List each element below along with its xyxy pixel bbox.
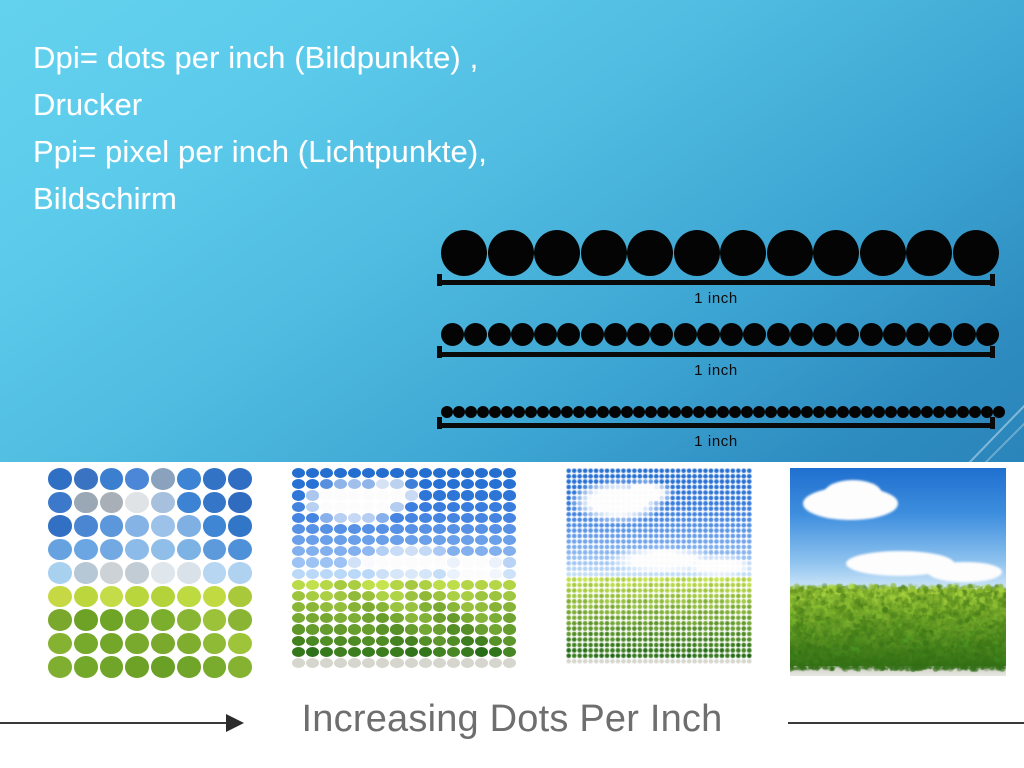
- ink-dot: [767, 323, 790, 346]
- grid-dot: [228, 492, 252, 514]
- grid-dot: [376, 591, 389, 601]
- grid-dot: [292, 658, 305, 668]
- grid-dot: [125, 586, 149, 608]
- ink-dot: [534, 323, 557, 346]
- grid-dot: [475, 557, 488, 567]
- ink-dot: [720, 230, 766, 276]
- grid-dot: [475, 624, 488, 634]
- grid-dot: [74, 515, 98, 537]
- ruler-tick-left: [437, 417, 442, 429]
- grid-dot: [461, 591, 474, 601]
- grid-dot: [292, 468, 305, 478]
- grid-dot: [419, 647, 432, 657]
- grid-dot: [292, 591, 305, 601]
- grid-dot: [376, 490, 389, 500]
- grid-dot: [292, 524, 305, 534]
- grid-dot: [390, 468, 403, 478]
- grid-dot: [125, 609, 149, 631]
- grid-dot: [503, 546, 516, 556]
- grid-dot: [447, 546, 460, 556]
- arrow-right-icon: [226, 714, 244, 732]
- grid-dot: [292, 557, 305, 567]
- grid-dot: [362, 602, 375, 612]
- grid-dot: [376, 468, 389, 478]
- ink-dot: [860, 230, 906, 276]
- caption-row: Increasing Dots Per Inch: [0, 698, 1024, 762]
- grid-dot: [390, 613, 403, 623]
- grid-dot: [100, 468, 124, 490]
- ruler-bar: [437, 346, 995, 358]
- ink-dot: [743, 323, 766, 346]
- grid-dot: [203, 468, 227, 490]
- grid-dot: [376, 647, 389, 657]
- grid-dot: [405, 546, 418, 556]
- ruler-tick-right: [990, 417, 995, 429]
- grid-dot: [292, 546, 305, 556]
- caption-label: Increasing Dots Per Inch: [302, 698, 723, 741]
- grid-dot: [390, 658, 403, 668]
- ruler-baseline: [437, 423, 995, 428]
- grid-dot: [475, 647, 488, 657]
- grid-dot: [433, 580, 446, 590]
- grid-dot: [334, 647, 347, 657]
- ink-dot: [906, 323, 929, 346]
- grid-dot: [489, 468, 502, 478]
- grid-dot: [503, 479, 516, 489]
- grid-dot: [348, 546, 361, 556]
- grid-dot: [503, 557, 516, 567]
- grid-dot: [433, 524, 446, 534]
- grid-dot: [125, 633, 149, 655]
- grid-dot: [405, 557, 418, 567]
- grid-dot: [292, 624, 305, 634]
- grid-dot: [334, 535, 347, 545]
- grid-dot: [419, 535, 432, 545]
- grid-dot: [362, 535, 375, 545]
- grid-dot: [320, 546, 333, 556]
- grid-dot: [419, 490, 432, 500]
- grid-dot: [177, 586, 201, 608]
- grid-dot: [461, 557, 474, 567]
- grid-dot: [292, 580, 305, 590]
- grid-dot: [362, 591, 375, 601]
- grid-dot: [151, 562, 175, 584]
- ink-dot: [976, 323, 999, 346]
- grid-dot: [447, 502, 460, 512]
- grid-dot: [100, 609, 124, 631]
- grass-region: [566, 582, 752, 664]
- grid-dot: [447, 468, 460, 478]
- ink-dot: [627, 230, 673, 276]
- grid-dot: [48, 468, 72, 490]
- grid-dot: [320, 624, 333, 634]
- grid-dot: [390, 580, 403, 590]
- grid-dot: [503, 647, 516, 657]
- grid-dot: [461, 490, 474, 500]
- grid-dot: [419, 502, 432, 512]
- grid-dot: [405, 524, 418, 534]
- grid-dot: [306, 557, 319, 567]
- grid-dot: [348, 624, 361, 634]
- grid-dot: [503, 490, 516, 500]
- page-title: Dpi= dots per inch (Bildpunkte) , Drucke…: [33, 34, 753, 222]
- caption-arrow-line-left: [0, 722, 232, 724]
- grid-dot: [447, 591, 460, 601]
- dot-strip-low: [441, 230, 999, 276]
- slide: Dpi= dots per inch (Bildpunkte) , Drucke…: [0, 0, 1024, 768]
- grid-dot: [475, 591, 488, 601]
- grid-dot: [362, 490, 375, 500]
- grid-dot: [405, 636, 418, 646]
- grid-dot: [433, 557, 446, 567]
- grid-dot: [48, 515, 72, 537]
- grid-dot: [320, 468, 333, 478]
- grid-dot: [489, 658, 502, 668]
- grid-dot: [433, 513, 446, 523]
- grid-dot: [292, 479, 305, 489]
- ink-dot: [441, 323, 464, 346]
- grid-dot: [503, 535, 516, 545]
- grid-dot: [461, 479, 474, 489]
- grid-dot: [306, 490, 319, 500]
- grid-dot: [405, 569, 418, 579]
- grid-dot: [362, 546, 375, 556]
- grid-dot: [320, 647, 333, 657]
- grid-dot: [503, 502, 516, 512]
- grid-dot: [320, 513, 333, 523]
- grid-dot: [74, 633, 98, 655]
- dpi-comparison-panels: [0, 468, 1024, 694]
- grid-dot: [348, 502, 361, 512]
- grid-dot: [74, 468, 98, 490]
- grid-dot: [390, 502, 403, 512]
- ruler-tick-left: [437, 274, 442, 286]
- ink-dot: [883, 323, 906, 346]
- grid-dot: [489, 647, 502, 657]
- grid-dot: [503, 602, 516, 612]
- grid-dot: [419, 569, 432, 579]
- grid-dot: [292, 636, 305, 646]
- grid-dot: [348, 658, 361, 668]
- scene-image: [790, 468, 1006, 676]
- grid-dot: [362, 636, 375, 646]
- ink-dot: [581, 323, 604, 346]
- grid-dot: [475, 613, 488, 623]
- grid-dot: [433, 468, 446, 478]
- grid-dot: [461, 647, 474, 657]
- grid-dot: [320, 658, 333, 668]
- grid-dot: [100, 656, 124, 678]
- grid-dot: [405, 468, 418, 478]
- grid-dot: [334, 490, 347, 500]
- grid-dot: [390, 546, 403, 556]
- grid-dot: [151, 586, 175, 608]
- grid-dot: [489, 591, 502, 601]
- grid-dot: [489, 490, 502, 500]
- cloud-icon: [577, 486, 663, 519]
- grid-dot: [74, 586, 98, 608]
- grid-dot: [433, 535, 446, 545]
- grid-dot: [177, 468, 201, 490]
- grid-dot: [151, 656, 175, 678]
- grid-dot: [419, 546, 432, 556]
- grid-dot: [74, 656, 98, 678]
- grid-dot: [292, 502, 305, 512]
- grid-dot: [419, 524, 432, 534]
- grid-dot: [447, 479, 460, 489]
- grid-dot: [74, 609, 98, 631]
- grid-dot: [362, 647, 375, 657]
- grid-dot: [125, 468, 149, 490]
- grid-dot: [177, 515, 201, 537]
- grid-dot: [447, 535, 460, 545]
- grid-dot: [433, 546, 446, 556]
- grid-dot: [203, 492, 227, 514]
- ink-dot: [604, 323, 627, 346]
- grid-dot: [306, 479, 319, 489]
- grid-dot: [489, 502, 502, 512]
- caption-line-right: [788, 722, 1024, 724]
- grid-dot: [376, 546, 389, 556]
- ink-dot: [790, 323, 813, 346]
- grid-dot: [390, 624, 403, 634]
- grid-dot: [125, 492, 149, 514]
- grid-dot: [503, 513, 516, 523]
- grid-dot: [320, 569, 333, 579]
- grid-dot: [320, 535, 333, 545]
- grid-dot: [74, 562, 98, 584]
- grid-dot: [292, 535, 305, 545]
- grid-dot: [203, 586, 227, 608]
- grid-dot: [306, 624, 319, 634]
- grid-dot: [177, 633, 201, 655]
- grid-dot: [447, 613, 460, 623]
- grid-dot: [503, 524, 516, 534]
- ink-dot: [674, 230, 720, 276]
- ink-dot: [488, 230, 534, 276]
- grid-dot: [447, 602, 460, 612]
- grid-dot: [461, 580, 474, 590]
- grid-dot: [320, 580, 333, 590]
- ink-dot: [650, 323, 673, 346]
- grid-dot: [376, 535, 389, 545]
- grid-dot: [447, 647, 460, 657]
- grid-dot: [125, 515, 149, 537]
- ink-dot: [720, 323, 743, 346]
- grid-dot: [362, 468, 375, 478]
- grid-dot: [334, 513, 347, 523]
- grid-dot: [489, 479, 502, 489]
- slide-body-panel: Increasing Dots Per Inch: [0, 462, 1024, 768]
- grid-dot: [362, 613, 375, 623]
- grid-dot: [292, 613, 305, 623]
- grid-dot: [461, 502, 474, 512]
- ink-dot: [697, 323, 720, 346]
- grid-dot: [405, 658, 418, 668]
- grid-dot: [489, 636, 502, 646]
- grid-dot: [503, 468, 516, 478]
- grid-dot: [334, 580, 347, 590]
- grid-dot: [306, 580, 319, 590]
- grid-dot: [489, 613, 502, 623]
- grid-dot: [348, 647, 361, 657]
- grid-dot: [405, 624, 418, 634]
- dots-per-inch-ruler-diagram: 1 inch 1 inch 1 inch: [437, 230, 999, 455]
- ink-dot: [767, 230, 813, 276]
- grid-dot: [475, 580, 488, 590]
- grid-dot: [362, 624, 375, 634]
- grid-dot: [503, 636, 516, 646]
- grid-dot: [405, 502, 418, 512]
- grid-dot: [419, 580, 432, 590]
- grid-dot: [433, 613, 446, 623]
- grid-dot: [390, 535, 403, 545]
- grid-dot: [376, 479, 389, 489]
- grid-dot: [390, 513, 403, 523]
- scene-image: [566, 468, 752, 664]
- grid-dot: [320, 524, 333, 534]
- grid-dot: [475, 569, 488, 579]
- grid-dot: [390, 636, 403, 646]
- grid-dot: [177, 562, 201, 584]
- grid-dot: [334, 569, 347, 579]
- grid-dot: [376, 557, 389, 567]
- grid-dot: [419, 624, 432, 634]
- grid-dot: [489, 602, 502, 612]
- grid-dot: [489, 524, 502, 534]
- grid-dot: [334, 546, 347, 556]
- grid-dot: [177, 539, 201, 561]
- grid-dot: [376, 602, 389, 612]
- grass-region: [790, 589, 1006, 676]
- slide-header-panel: Dpi= dots per inch (Bildpunkte) , Drucke…: [0, 0, 1024, 462]
- grid-dot: [405, 490, 418, 500]
- grid-dot: [433, 602, 446, 612]
- grid-dot: [405, 591, 418, 601]
- grid-dot: [151, 633, 175, 655]
- ink-dot: [534, 230, 580, 276]
- ruler-tick-right: [990, 346, 995, 358]
- cloud-icon: [928, 562, 1001, 583]
- grid-dot: [151, 609, 175, 631]
- ruler-bar: [437, 417, 995, 429]
- grid-dot: [489, 557, 502, 567]
- grid-dot: [475, 479, 488, 489]
- grid-dot: [228, 562, 252, 584]
- grid-dot: [151, 468, 175, 490]
- grid-dot: [447, 513, 460, 523]
- ground-region: [790, 666, 1006, 676]
- grid-dot: [419, 557, 432, 567]
- grid-dot: [177, 492, 201, 514]
- ruler-label: 1 inch: [437, 433, 995, 450]
- ink-dot: [813, 230, 859, 276]
- grid-dot: [320, 636, 333, 646]
- grid-dot: [447, 636, 460, 646]
- grid-dot: [320, 602, 333, 612]
- grid-dot: [405, 513, 418, 523]
- grid-dot: [405, 535, 418, 545]
- grid-dot: [447, 490, 460, 500]
- grid-dot: [489, 569, 502, 579]
- grid-dot: [320, 591, 333, 601]
- grid-dot: [228, 539, 252, 561]
- grid-dot: [203, 609, 227, 631]
- grid-dot: [228, 586, 252, 608]
- grid-dot: [461, 602, 474, 612]
- ruler-baseline: [437, 280, 995, 285]
- grid-dot: [489, 535, 502, 545]
- grid-dot: [334, 502, 347, 512]
- grid-dot: [461, 513, 474, 523]
- panel-dot-grid-fine: [566, 468, 752, 664]
- grid-dot: [489, 546, 502, 556]
- grid-dot: [390, 602, 403, 612]
- grid-dot: [203, 539, 227, 561]
- grid-dot: [203, 633, 227, 655]
- grid-dot: [125, 539, 149, 561]
- grid-dot: [419, 636, 432, 646]
- grid-dot: [447, 569, 460, 579]
- grid-dot: [228, 515, 252, 537]
- grid-dot: [228, 656, 252, 678]
- grid-dot: [320, 479, 333, 489]
- grid-dot: [334, 624, 347, 634]
- grid-dot: [348, 513, 361, 523]
- grid-dot: [489, 580, 502, 590]
- grid-dot: [334, 524, 347, 534]
- ink-dot: [860, 323, 883, 346]
- grid-dot: [334, 479, 347, 489]
- grid-dot: [48, 586, 72, 608]
- grid-dot: [503, 658, 516, 668]
- grid-dot: [503, 569, 516, 579]
- grid-dot: [100, 515, 124, 537]
- grid-dot: [405, 479, 418, 489]
- grid-dot: [306, 546, 319, 556]
- grid-dot: [320, 613, 333, 623]
- grid-dot: [348, 524, 361, 534]
- grid-dot: [362, 479, 375, 489]
- grid-dot: [390, 479, 403, 489]
- grid-dot: [292, 513, 305, 523]
- grid-dot: [348, 591, 361, 601]
- grid-dot: [405, 613, 418, 623]
- grid-dot: [419, 658, 432, 668]
- grid-dot: [433, 569, 446, 579]
- grid-dot: [228, 609, 252, 631]
- grid-dot: [419, 479, 432, 489]
- grid-dot: [376, 513, 389, 523]
- grid-dot: [503, 624, 516, 634]
- ink-dot: [953, 230, 999, 276]
- grid-dot: [100, 633, 124, 655]
- grid-dot: [320, 502, 333, 512]
- grid-dot: [433, 490, 446, 500]
- grid-dot: [306, 658, 319, 668]
- grid-dot: [203, 562, 227, 584]
- grid-dot: [320, 490, 333, 500]
- grid-dot: [306, 468, 319, 478]
- grid-dot: [306, 569, 319, 579]
- grid-dot: [461, 636, 474, 646]
- grid-dot: [177, 609, 201, 631]
- grid-dot: [177, 656, 201, 678]
- ink-dot: [836, 323, 859, 346]
- grid-dot: [475, 658, 488, 668]
- grid-dot: [306, 502, 319, 512]
- ink-dot: [953, 323, 976, 346]
